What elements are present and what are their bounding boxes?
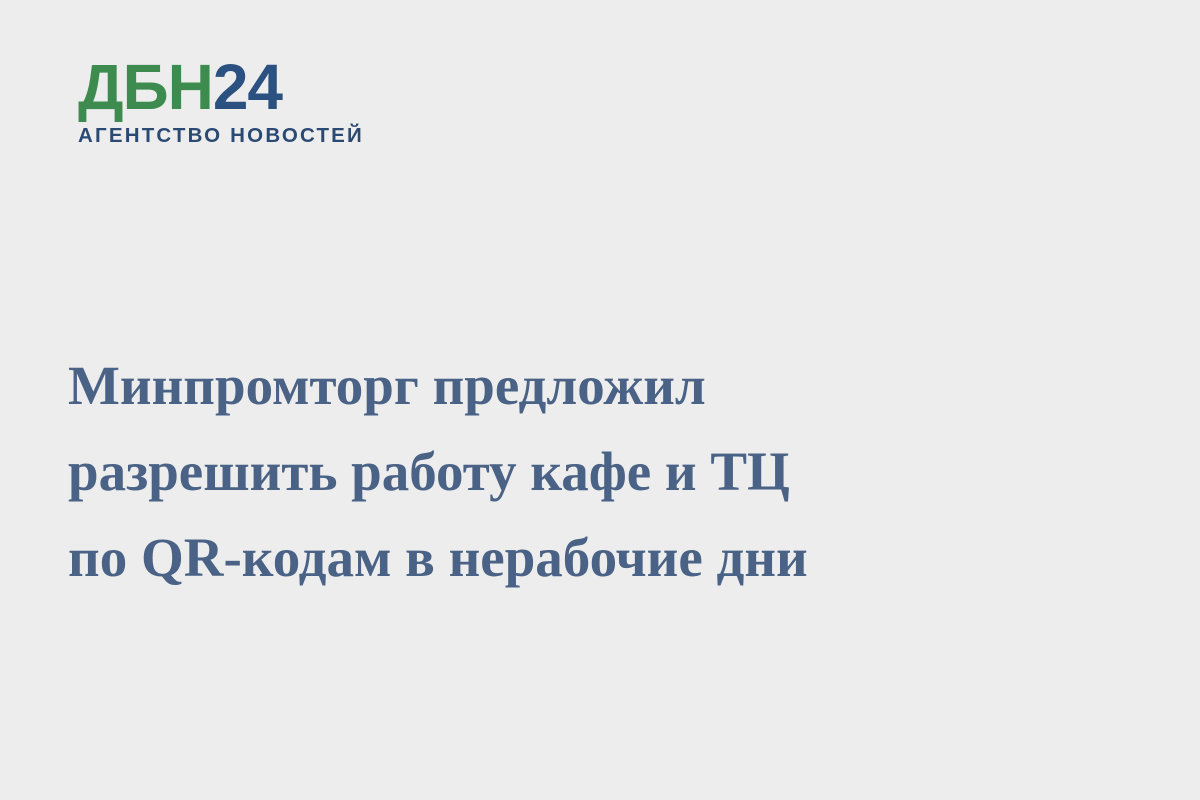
logo-tagline: АГЕНТСТВО НОВОСТЕЙ [78,124,364,148]
headline-line-2: разрешить работу кафе и ТЦ [68,429,868,515]
logo-wordmark-secondary: 24 [213,51,282,123]
headline-line-3: по QR-кодам в нерабочие дни [68,515,868,601]
news-card: ДБН24 АГЕНТСТВО НОВОСТЕЙ Минпромторг пре… [0,0,1200,800]
headline-line-1: Минпромторг предложил [68,343,868,429]
logo-wordmark-primary: ДБН [78,51,213,123]
headline: Минпромторг предложил разрешить работу к… [68,343,868,601]
logo-wordmark: ДБН24 [78,58,364,117]
logo: ДБН24 АГЕНТСТВО НОВОСТЕЙ [78,58,364,148]
